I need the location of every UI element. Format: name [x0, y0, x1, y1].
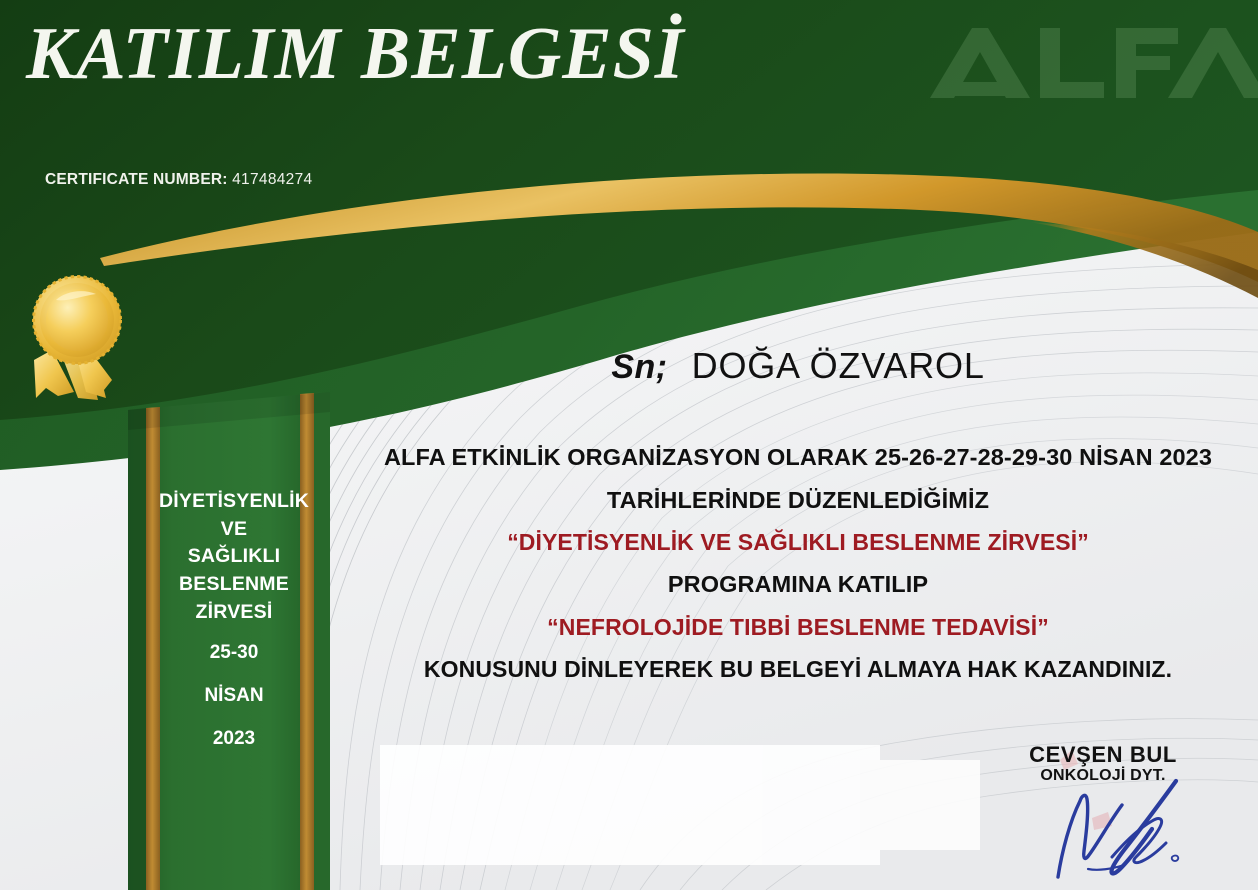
body-line-6: KONUSUNU DİNLEYEREK BU BELGEYİ ALMAYA HA… — [338, 658, 1258, 681]
certificate-number: CERTIFICATE NUMBER: 417484274 — [45, 171, 312, 189]
certificate-number-value: 417484274 — [232, 171, 312, 188]
gold-rosette-seal — [33, 276, 121, 400]
recipient-name: DOĞA ÖZVAROL — [692, 345, 985, 386]
body-line-5-topic-title: “NEFROLOJİDE TIBBİ BESLENME TEDAVİSİ” — [338, 616, 1258, 639]
signer-name: CEVŞEN BUL — [978, 743, 1228, 766]
signer-title: ONKOLOJİ DYT. — [978, 767, 1228, 785]
recipient-salutation: Sn; — [611, 348, 667, 386]
signature-block: CEVŞEN BUL ONKOLOJİ DYT. — [978, 743, 1228, 785]
body-line-3-event-title: “DİYETİSYENLİK VE SAĞLIKLI BESLENME ZİRV… — [338, 531, 1258, 554]
certificate-body-text: ALFA ETKİNLİK ORGANİZASYON OLARAK 25-26-… — [338, 446, 1258, 700]
vertical-ribbon — [128, 392, 330, 890]
certificate-number-label: CERTIFICATE NUMBER: — [45, 171, 228, 188]
body-line-4: PROGRAMINA KATILIP — [338, 573, 1258, 597]
body-line-2: TARİHLERİNDE DÜZENLEDİĞİMİZ — [338, 489, 1258, 513]
page-title: KATILIM BELGESİ — [26, 17, 685, 91]
body-line-1: ALFA ETKİNLİK ORGANİZASYON OLARAK 25-26-… — [338, 446, 1258, 470]
certificate-document: KATILIM BELGESİ CERTIFICATE NUMBER: 4174… — [0, 0, 1258, 890]
recipient-line: Sn;DOĞA ÖZVAROL — [338, 345, 1258, 387]
